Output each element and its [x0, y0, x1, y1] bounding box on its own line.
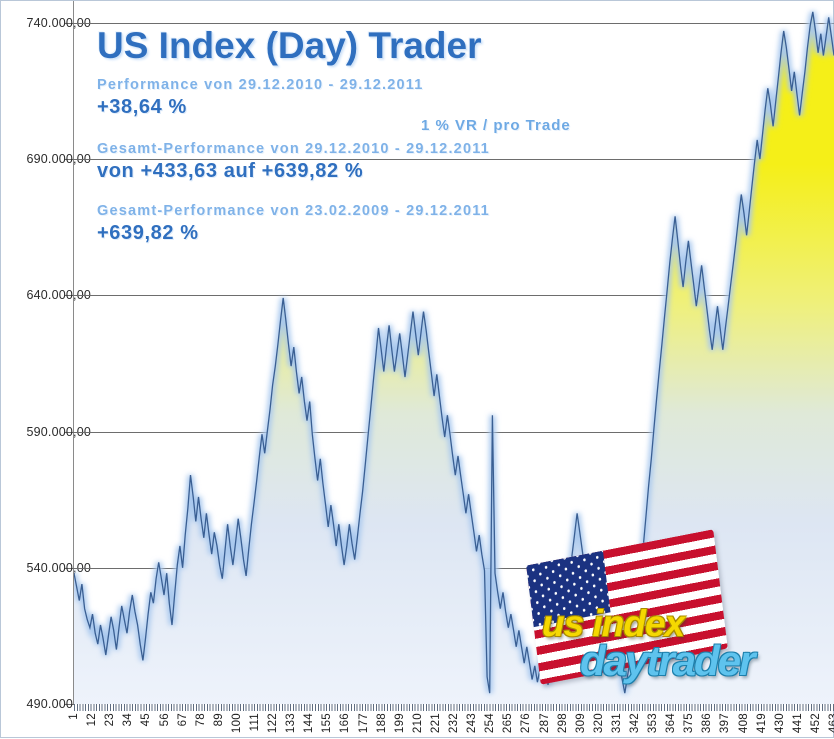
- x-axis-label: 188: [376, 713, 388, 733]
- x-axis-label: 177: [358, 713, 370, 733]
- x-axis-ticks: [74, 704, 834, 711]
- x-axis-label: 265: [502, 713, 514, 733]
- x-axis-label: 375: [683, 713, 695, 733]
- x-axis-label: 309: [575, 713, 587, 733]
- x-axis-label: 221: [430, 713, 442, 733]
- x-axis-label: 254: [484, 713, 496, 733]
- total-performance-period-label: Gesamt-Performance von 29.12.2010 - 29.1…: [97, 141, 747, 157]
- x-axis-label: 243: [466, 713, 478, 733]
- x-axis-label: 56: [159, 713, 171, 726]
- x-axis-label: 199: [394, 713, 406, 733]
- x-axis-label: 100: [231, 713, 243, 733]
- x-axis-label: 232: [448, 713, 460, 733]
- total-performance-since-value: +639,82 %: [97, 222, 747, 245]
- x-axis: 1122334455667788910011112213314415516617…: [74, 704, 834, 739]
- x-axis-label: 342: [629, 713, 641, 733]
- x-axis-label: 452: [810, 713, 822, 733]
- headline-block: US Index (Day) Trader Performance von 29…: [97, 27, 747, 245]
- x-axis-label: 144: [303, 713, 315, 733]
- x-axis-label: 386: [701, 713, 713, 733]
- x-axis-label: 78: [195, 713, 207, 726]
- x-axis-label: 89: [213, 713, 225, 726]
- x-axis-label: 364: [665, 713, 677, 733]
- x-axis-label: 133: [285, 713, 297, 733]
- x-axis-label: 122: [267, 713, 279, 733]
- performance-period-label: Performance von 29.12.2010 - 29.12.2011: [97, 77, 747, 93]
- x-axis-label: 397: [719, 713, 731, 733]
- x-axis-label: 45: [140, 713, 152, 726]
- x-axis-label: 155: [321, 713, 333, 733]
- x-axis-label: 67: [177, 713, 189, 726]
- brand-logo: us index daytrader: [524, 541, 824, 701]
- x-axis-label: 320: [593, 713, 605, 733]
- x-axis-label: 34: [122, 713, 134, 726]
- performance-value: +38,64 %: [97, 96, 747, 119]
- x-axis-label: 331: [611, 713, 623, 733]
- x-axis-label: 111: [249, 713, 261, 731]
- x-axis-label: 12: [86, 713, 98, 726]
- page-title: US Index (Day) Trader: [97, 27, 747, 66]
- x-axis-label: 276: [520, 713, 532, 733]
- x-axis-label: 298: [557, 713, 569, 733]
- total-performance-value: von +433,63 auf +639,82 %: [97, 160, 747, 183]
- logo-daytrader-text: daytrader: [580, 637, 753, 685]
- x-axis-label: 287: [539, 713, 551, 733]
- x-axis-label: 1: [68, 713, 80, 720]
- x-axis-label: 408: [738, 713, 750, 733]
- x-axis-label: 23: [104, 713, 116, 726]
- x-axis-label: 166: [339, 713, 351, 733]
- risk-note: 1 % VR / pro Trade: [421, 117, 571, 134]
- x-axis-label: 463: [828, 713, 834, 733]
- x-axis-label: 441: [792, 713, 804, 733]
- x-axis-label: 210: [412, 713, 424, 733]
- chart-screenshot: 490.000,00540.000,00590.000,00640.000,00…: [0, 0, 834, 738]
- total-performance-since-label: Gesamt-Performance von 23.02.2009 - 29.1…: [97, 203, 747, 219]
- x-axis-label: 353: [647, 713, 659, 733]
- x-axis-label: 419: [756, 713, 768, 733]
- x-axis-label: 430: [774, 713, 786, 733]
